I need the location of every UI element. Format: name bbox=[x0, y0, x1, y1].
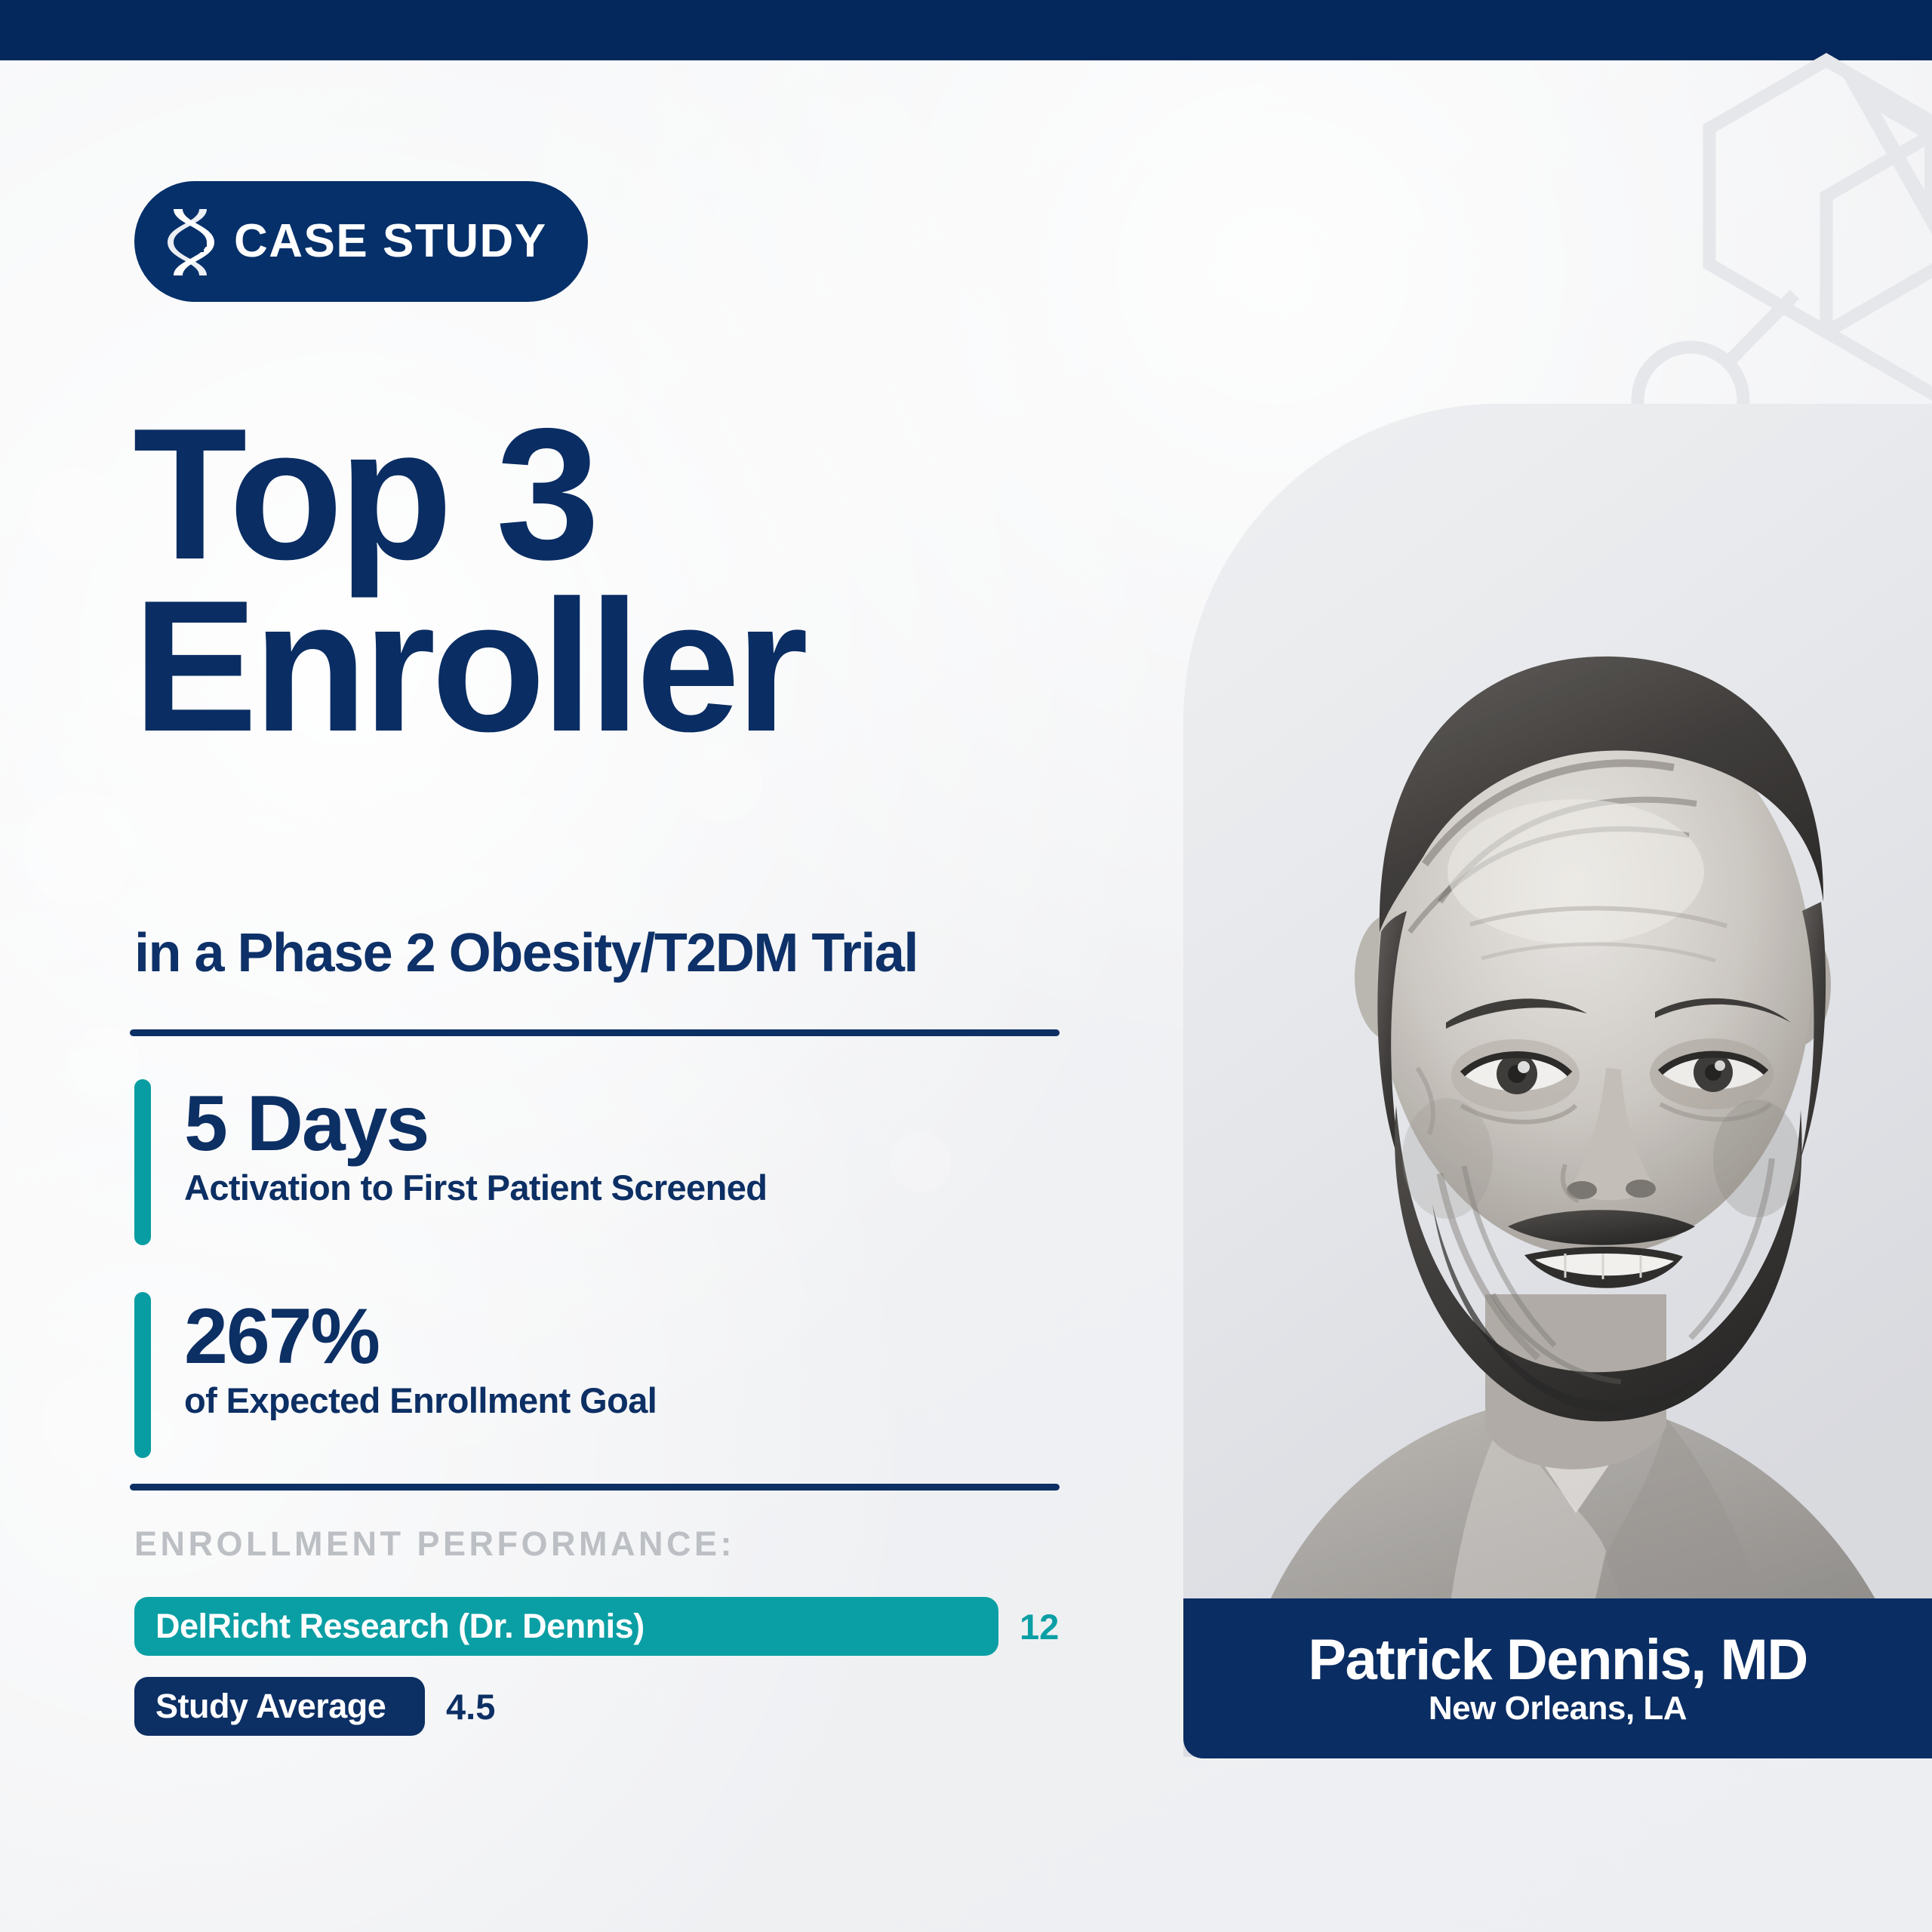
chart-bar-row: Study Average 4.5 bbox=[134, 1677, 1085, 1736]
headline-subtitle: in a Phase 2 Obesity/T2DM Trial bbox=[134, 922, 918, 984]
chart-value-delricht: 12 bbox=[1020, 1606, 1059, 1647]
chart-bar-row: DelRicht Research (Dr. Dennis) 12 bbox=[134, 1597, 1085, 1656]
stat-label: of Expected Enrollment Goal bbox=[184, 1380, 657, 1421]
divider-top bbox=[130, 1029, 1060, 1036]
stat-value: 5 Days bbox=[184, 1084, 767, 1164]
poster-canvas: CASE STUDY Top 3 Enroller in a Phase 2 O… bbox=[0, 0, 1932, 1932]
profile-photo bbox=[1183, 404, 1932, 1757]
page-title: Top 3 Enroller bbox=[133, 408, 1076, 752]
left-content-column: CASE STUDY Top 3 Enroller in a Phase 2 O… bbox=[0, 0, 1117, 1932]
stat-activation-days: 5 Days Activation to First Patient Scree… bbox=[134, 1079, 767, 1245]
enrollment-performance-chart: ENROLLMENT PERFORMANCE: DelRicht Researc… bbox=[134, 1524, 1085, 1736]
stat-enrollment-goal: 267% of Expected Enrollment Goal bbox=[134, 1292, 657, 1458]
chart-bar-delricht: DelRicht Research (Dr. Dennis) bbox=[134, 1597, 998, 1656]
chart-title: ENROLLMENT PERFORMANCE: bbox=[134, 1524, 1085, 1564]
chart-value-study-average: 4.5 bbox=[446, 1686, 495, 1727]
stat-accent-bar bbox=[134, 1079, 151, 1245]
profile-name: Patrick Dennis, MD bbox=[1308, 1632, 1807, 1689]
headline-line-2: Enroller bbox=[133, 580, 1076, 752]
case-study-badge[interactable]: CASE STUDY bbox=[134, 181, 588, 302]
stat-value: 267% bbox=[184, 1297, 657, 1377]
chart-bar-study-average: Study Average bbox=[134, 1677, 425, 1736]
case-study-badge-label: CASE STUDY bbox=[234, 218, 547, 265]
profile-nameplate: Patrick Dennis, MD New Orleans, LA bbox=[1183, 1598, 1932, 1758]
stat-label: Activation to First Patient Screened bbox=[184, 1167, 767, 1208]
profile-photo-panel bbox=[1183, 404, 1932, 1757]
stat-accent-bar bbox=[134, 1292, 151, 1458]
dna-helix-icon bbox=[166, 208, 214, 275]
divider-bottom bbox=[130, 1484, 1060, 1491]
profile-location: New Orleans, LA bbox=[1429, 1692, 1687, 1725]
